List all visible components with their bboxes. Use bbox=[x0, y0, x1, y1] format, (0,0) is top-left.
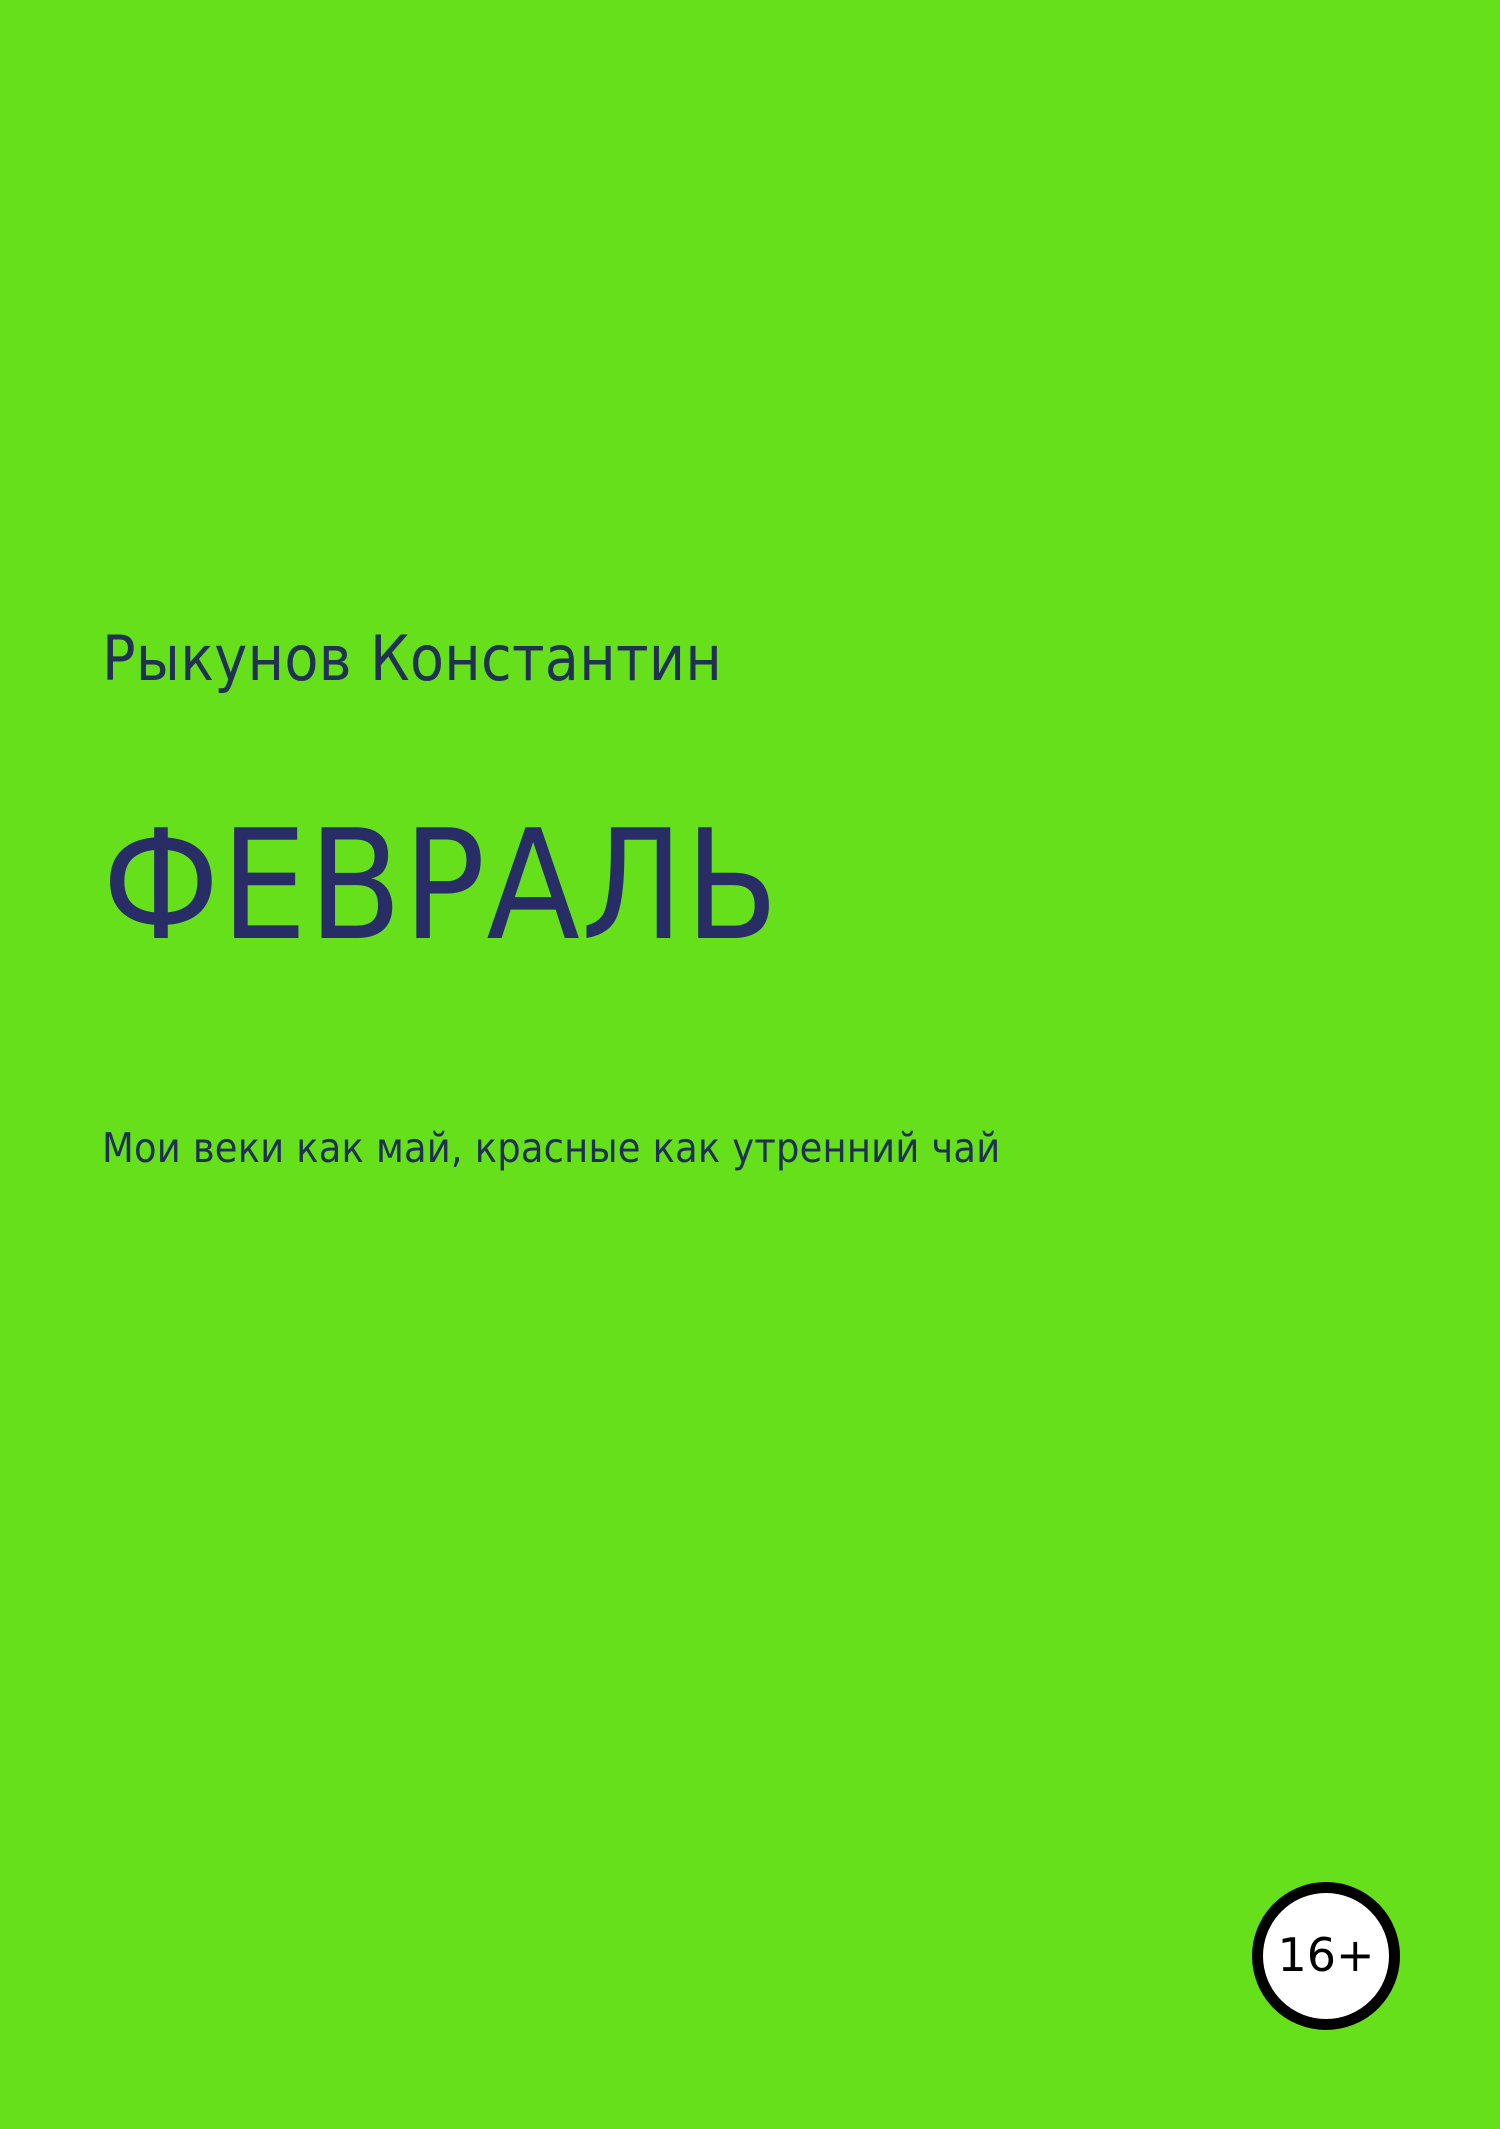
book-cover: Рыкунов Константин ФЕВРАЛЬ Мои веки как … bbox=[0, 0, 1500, 2129]
cover-text-block: Рыкунов Константин ФЕВРАЛЬ Мои веки как … bbox=[102, 628, 1402, 690]
age-rating-badge: 16+ bbox=[1252, 1882, 1400, 2030]
book-subtitle: Мои веки как май, красные как утренний ч… bbox=[102, 1125, 1000, 1172]
age-rating-label: 16+ bbox=[1277, 1932, 1374, 1978]
page-title: ФЕВРАЛЬ bbox=[102, 810, 780, 962]
author-name: Рыкунов Константин bbox=[102, 628, 1402, 690]
cover-background bbox=[0, 0, 1500, 2129]
